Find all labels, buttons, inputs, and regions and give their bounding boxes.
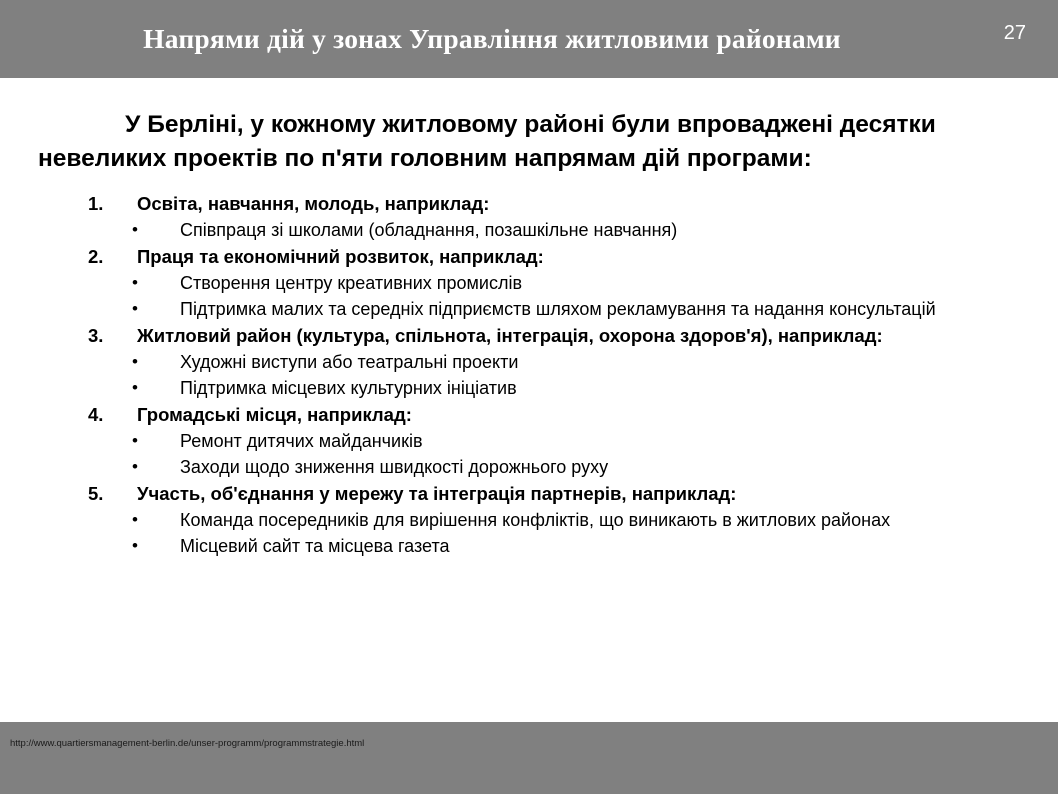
sub-bullet-text: Ремонт дитячих майданчиків	[180, 428, 1020, 454]
list-item-title: Житловий район (культура, спільнота, інт…	[137, 322, 927, 349]
page-number: 27	[1004, 22, 1026, 45]
bullet-icon: •	[128, 428, 180, 454]
list-item-marker: 4.	[88, 401, 137, 428]
list-item-title: Праця та економічний розвиток, наприклад…	[137, 243, 927, 270]
bullet-icon: •	[128, 375, 180, 401]
list-item-marker: 1.	[88, 190, 137, 217]
list-item-heading: 5. Участь, об'єднання у мережу та інтегр…	[0, 480, 1058, 507]
list-item: 4. Громадські місця, наприклад: • Ремонт…	[0, 401, 1058, 480]
sub-bullet-text: Заходи щодо зниження швидкості дорожньог…	[180, 454, 1020, 480]
list-item-title: Освіта, навчання, молодь, наприклад:	[137, 190, 927, 217]
page-title: Напрями дій у зонах Управління житловими…	[0, 0, 960, 78]
list-item: 2. Праця та економічний розвиток, наприк…	[0, 243, 1058, 322]
sub-bullet-text: Місцевий сайт та місцева газета	[180, 533, 1020, 559]
bullet-icon: •	[128, 217, 180, 243]
sub-bullet-text: Підтримка малих та середніх підприємств …	[180, 296, 1020, 322]
list-item-heading: 3. Житловий район (культура, спільнота, …	[0, 322, 1058, 349]
sub-bullet: • Підтримка малих та середніх підприємст…	[0, 296, 1058, 322]
sub-bullet: • Заходи щодо зниження швидкості дорожнь…	[0, 454, 1058, 480]
sub-bullet-text: Підтримка місцевих культурних ініціатив	[180, 375, 1020, 401]
sub-bullet: • Створення центру креативних промислів	[0, 270, 1058, 296]
source-url-link[interactable]: http://www.quartiersmanagement-berlin.de…	[10, 738, 364, 750]
intro-paragraph: У Берліні, у кожному житловому районі бу…	[38, 108, 1023, 176]
sub-bullet-text: Співпраця зі школами (обладнання, позашк…	[180, 217, 1020, 243]
sub-bullet: • Ремонт дитячих майданчиків	[0, 428, 1058, 454]
list-item-marker: 2.	[88, 243, 137, 270]
bullet-icon: •	[128, 349, 180, 375]
list-item-title: Участь, об'єднання у мережу та інтеграці…	[137, 480, 927, 507]
sub-bullet: • Художні виступи або театральні проекти	[0, 349, 1058, 375]
intro-line-1: У Берліні, у кожному житловому районі бу…	[38, 108, 1023, 142]
bullet-icon: •	[128, 454, 180, 480]
list-item-title: Громадські місця, наприклад:	[137, 401, 927, 428]
bullet-icon: •	[128, 507, 180, 533]
sub-bullet: • Команда посередників для вирішення кон…	[0, 507, 1058, 533]
intro-line-2: невеликих проектів по п'яти головним нап…	[38, 142, 1023, 176]
bullet-icon: •	[128, 533, 180, 559]
numbered-list: 1. Освіта, навчання, молодь, наприклад: …	[0, 190, 1058, 559]
list-item-heading: 2. Праця та економічний розвиток, наприк…	[0, 243, 1058, 270]
sub-bullet-text: Художні виступи або театральні проекти	[180, 349, 1020, 375]
bullet-icon: •	[128, 296, 180, 322]
sub-bullet-text: Створення центру креативних промислів	[180, 270, 1020, 296]
list-item-marker: 5.	[88, 480, 137, 507]
sub-bullet: • Місцевий сайт та місцева газета	[0, 533, 1058, 559]
slide-footer-bar: http://www.quartiersmanagement-berlin.de…	[0, 722, 1058, 794]
sub-bullet: • Співпраця зі школами (обладнання, поза…	[0, 217, 1058, 243]
bullet-icon: •	[128, 270, 180, 296]
list-item: 5. Участь, об'єднання у мережу та інтегр…	[0, 480, 1058, 559]
sub-bullet-text: Команда посередників для вирішення конфл…	[180, 507, 1020, 533]
list-item: 1. Освіта, навчання, молодь, наприклад: …	[0, 190, 1058, 243]
slide-header-bar: Напрями дій у зонах Управління житловими…	[0, 0, 1058, 78]
list-item-heading: 1. Освіта, навчання, молодь, наприклад:	[0, 190, 1058, 217]
list-item: 3. Житловий район (культура, спільнота, …	[0, 322, 1058, 401]
list-item-marker: 3.	[88, 322, 137, 349]
list-item-heading: 4. Громадські місця, наприклад:	[0, 401, 1058, 428]
sub-bullet: • Підтримка місцевих культурних ініціати…	[0, 375, 1058, 401]
